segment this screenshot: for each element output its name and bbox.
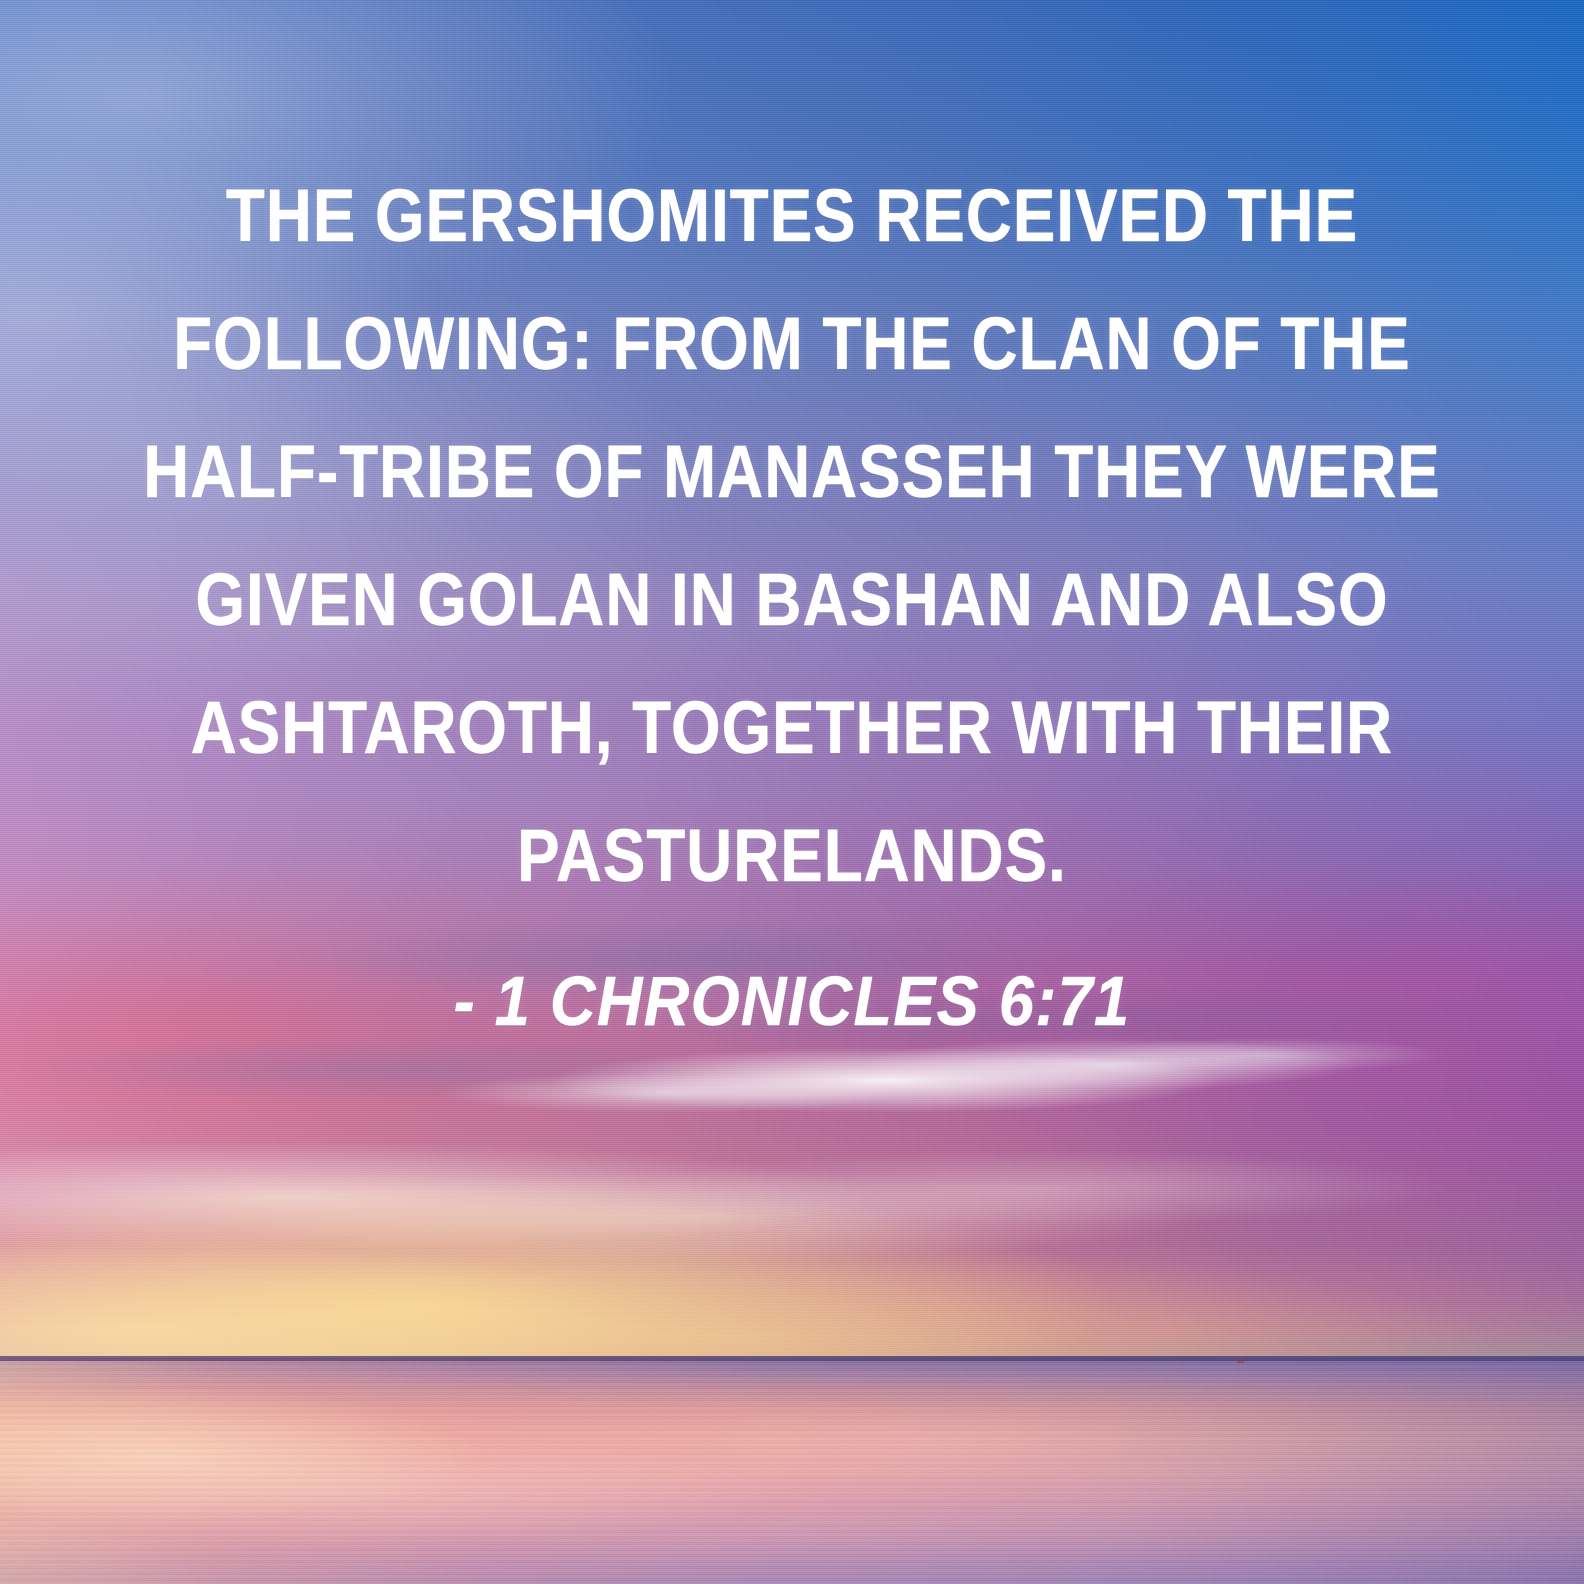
horizon-line — [0, 1356, 1584, 1361]
verse-line: Ashtaroth, together with their — [111, 664, 1473, 792]
distant-buoy-speck — [1237, 1359, 1244, 1363]
verse-line: given Golan in Bashan and also — [111, 536, 1473, 664]
verse-line: half-tribe of Manasseh they were — [111, 408, 1473, 536]
verse-line: pasturelands. — [111, 792, 1473, 920]
verse-reference: - 1 Chronicles 6:71 — [79, 920, 1505, 1040]
verse-image-canvas: The Gershomites received the following: … — [0, 0, 1584, 1584]
verse-text: The Gershomites received the following: … — [111, 0, 1473, 920]
verse-line: following: from the clan of the — [111, 280, 1473, 408]
ocean-water — [0, 1358, 1584, 1584]
verse-line: The Gershomites received the — [111, 152, 1473, 280]
verse-line-stack: The Gershomites received the following: … — [111, 152, 1473, 920]
verse-overlay: The Gershomites received the following: … — [0, 0, 1584, 1040]
